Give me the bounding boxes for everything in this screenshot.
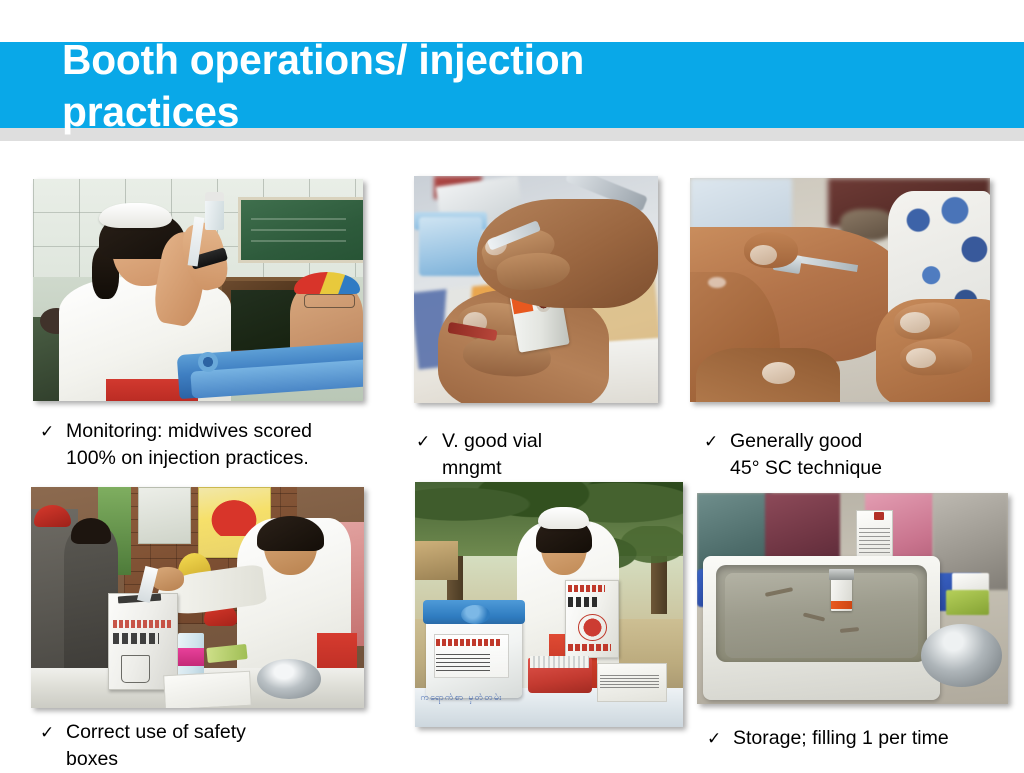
vial-metal-cap xyxy=(829,569,854,580)
vaccine-vial xyxy=(205,197,225,230)
caption-sc-technique: ✓ Generally good 45° SC technique xyxy=(700,428,1000,482)
caption-text: Generally good 45° SC technique xyxy=(730,428,882,482)
background-hut xyxy=(415,541,458,580)
metal-bowl xyxy=(921,624,1002,687)
nurse-cap xyxy=(538,507,589,529)
syringes-in-basket xyxy=(530,656,589,668)
supporting-nail xyxy=(762,362,795,384)
nurse-cap xyxy=(99,203,172,227)
skin-highlight xyxy=(708,277,726,288)
photo-scene xyxy=(31,487,364,708)
vial-cap xyxy=(205,192,225,201)
ice-pack-surface xyxy=(725,573,918,657)
caption-vial-management: ✓ V. good vial mngmt xyxy=(412,428,682,482)
check-icon: ✓ xyxy=(36,719,66,746)
caption-storage: ✓ Storage; filling 1 per time xyxy=(703,725,1023,752)
check-icon: ✓ xyxy=(36,418,66,445)
chalkboard xyxy=(238,197,363,264)
caption-safety-boxes: ✓ Correct use of safety boxes xyxy=(36,719,366,773)
check-icon: ✓ xyxy=(412,428,442,455)
table-banner-text: ကရောက်စာ မှတ်တမ်း xyxy=(420,693,677,722)
carrier-label-text xyxy=(436,654,490,671)
vial-orange-label xyxy=(831,601,853,609)
caption-text: Storage; filling 1 per time xyxy=(733,725,949,752)
photo-scene xyxy=(33,179,363,401)
check-icon: ✓ xyxy=(703,725,733,752)
metal-bowl xyxy=(257,659,320,699)
photo-vial-handling xyxy=(414,176,658,403)
tally-card-mark xyxy=(874,512,883,520)
green-packet xyxy=(946,590,990,615)
photo-safety-box-use xyxy=(31,487,364,708)
caption-text: Correct use of safety boxes xyxy=(66,719,246,773)
eyeglasses xyxy=(304,294,356,307)
safety-box-brand-text xyxy=(113,620,173,629)
bottle-pink-label xyxy=(178,648,205,666)
biohazard-icon xyxy=(578,614,607,641)
tally-sheets xyxy=(163,670,251,708)
wall-poster-1 xyxy=(138,487,191,544)
safety-box-label-text xyxy=(568,597,600,607)
safety-box-icon xyxy=(121,655,150,684)
caption-text: Monitoring: midwives scored 100% on inje… xyxy=(66,418,312,472)
carrier-label-heading xyxy=(436,639,500,646)
photo-scene xyxy=(414,176,658,403)
caption-monitoring: ✓ Monitoring: midwives scored 100% on in… xyxy=(36,418,396,472)
caregiver-nail-1 xyxy=(900,312,930,332)
photo-sc-injection xyxy=(690,178,990,402)
photo-vaccine-storage xyxy=(697,493,1008,704)
photo-midwife-safety-box: ကရောက်စာ မှတ်တမ်း xyxy=(415,482,683,727)
caption-text: V. good vial mngmt xyxy=(442,428,542,482)
carton-printing xyxy=(600,673,659,688)
safety-box-label-text xyxy=(113,633,160,644)
safety-box-brand-text xyxy=(568,585,606,592)
photo-midwife-drawing xyxy=(33,179,363,401)
photo-scene xyxy=(697,493,1008,704)
photo-scene: ကရောက်စာ မှတ်တမ်း xyxy=(415,482,683,727)
vaccine-carrier-knob xyxy=(461,605,490,625)
photo-scene xyxy=(690,178,990,402)
safety-box-warning-band xyxy=(568,644,611,651)
vaccine-carrier xyxy=(419,217,482,276)
page-title: Booth operations/ injection practices xyxy=(62,34,741,138)
check-icon: ✓ xyxy=(700,428,730,455)
